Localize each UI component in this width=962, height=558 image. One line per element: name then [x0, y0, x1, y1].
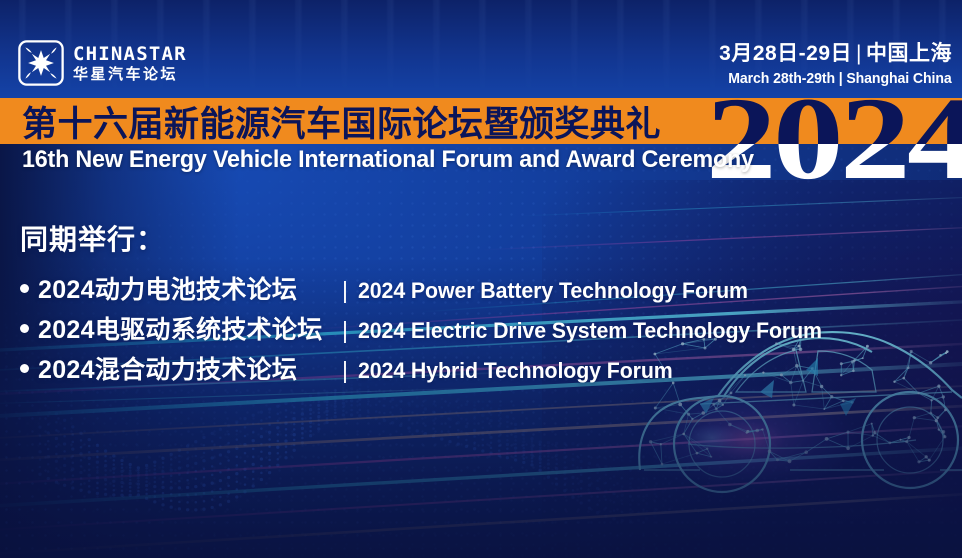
bullet-icon: [20, 284, 29, 293]
date-cn-separator: |: [852, 42, 866, 65]
event-date-location: 3月28日-29日|中国上海 March 28th-29th|Shanghai …: [714, 42, 952, 87]
date-line-cn: 3月28日-29日|中国上海: [714, 42, 952, 66]
brand-logo[interactable]: CHINASTAR 华星汽车论坛: [18, 40, 187, 86]
brand-text: CHINASTAR 华星汽车论坛: [73, 45, 187, 82]
event-name-cn: 2024电驱动系统技术论坛: [38, 310, 332, 346]
list-item[interactable]: 2024动力电池技术论坛 | 2024 Power Battery Techno…: [20, 270, 836, 306]
list-item[interactable]: 2024混合动力技术论坛 | 2024 Hybrid Technology Fo…: [20, 350, 836, 386]
event-separator: |: [332, 277, 358, 304]
bullet-icon: [20, 324, 29, 333]
chinastar-burst-logo-icon: [18, 40, 64, 86]
brand-name-en: CHINASTAR: [73, 45, 187, 64]
event-separator: |: [332, 357, 358, 384]
page-title-en: 16th New Energy Vehicle International Fo…: [22, 146, 754, 174]
event-name-cn: 2024混合动力技术论坛: [38, 350, 332, 386]
date-en-separator: |: [835, 70, 846, 87]
side-events-section: 同期举行： 2024动力电池技术论坛 | 2024 Power Battery …: [20, 218, 836, 390]
event-name-en: 2024 Power Battery Technology Forum: [358, 278, 748, 304]
list-item[interactable]: 2024电驱动系统技术论坛 | 2024 Electric Drive Syst…: [20, 310, 836, 346]
page-title-cn: 第十六届新能源汽车国际论坛暨颁奖典礼: [22, 97, 661, 145]
date-cn: 3月28日-29日: [719, 42, 852, 65]
event-name-en: 2024 Electric Drive System Technology Fo…: [358, 318, 822, 344]
event-name-en: 2024 Hybrid Technology Forum: [358, 358, 673, 384]
event-separator: |: [332, 317, 358, 344]
side-events-heading: 同期举行：: [20, 218, 836, 258]
location-en: Shanghai China: [847, 70, 952, 87]
conference-banner: CHINASTAR 华星汽车论坛 3月28日-29日|中国上海 March 28…: [0, 0, 962, 558]
bullet-icon: [20, 364, 29, 373]
location-cn: 中国上海: [866, 42, 952, 65]
event-name-cn: 2024动力电池技术论坛: [38, 270, 332, 306]
date-line-en: March 28th-29th|Shanghai China: [729, 70, 952, 87]
date-en: March 28th-29th: [729, 70, 836, 87]
brand-name-cn: 华星汽车论坛: [73, 67, 187, 82]
